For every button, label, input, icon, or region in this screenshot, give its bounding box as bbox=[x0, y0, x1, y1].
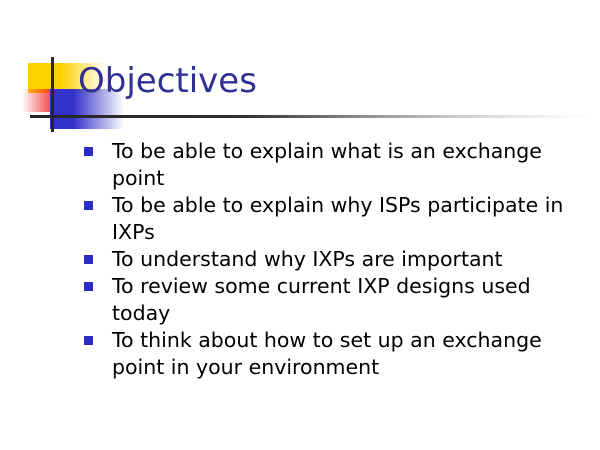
list-item: To review some current IXP designs used … bbox=[84, 273, 584, 327]
square-bullet-icon bbox=[84, 336, 93, 345]
presentation-slide: Objectives To be able to explain what is… bbox=[0, 0, 600, 450]
list-item: To be able to explain what is an exchang… bbox=[84, 138, 584, 192]
page-title: Objectives bbox=[78, 60, 257, 102]
title-underline-rule bbox=[30, 115, 592, 118]
square-bullet-icon bbox=[84, 255, 93, 264]
square-bullet-icon bbox=[84, 201, 93, 210]
list-item: To understand why IXPs are important bbox=[84, 246, 584, 273]
decoration-red-block bbox=[22, 89, 66, 112]
decoration-vertical-line bbox=[51, 57, 54, 132]
list-item-text: To understand why IXPs are important bbox=[112, 246, 584, 273]
list-item-text: To be able to explain what is an exchang… bbox=[112, 138, 584, 192]
square-bullet-icon bbox=[84, 282, 93, 291]
objectives-bullet-list: To be able to explain what is an exchang… bbox=[84, 138, 584, 381]
list-item-text: To be able to explain why ISPs participa… bbox=[112, 192, 584, 246]
square-bullet-icon bbox=[84, 147, 93, 156]
list-item-text: To think about how to set up an exchange… bbox=[112, 327, 584, 381]
list-item: To think about how to set up an exchange… bbox=[84, 327, 584, 381]
list-item-text: To review some current IXP designs used … bbox=[112, 273, 584, 327]
list-item: To be able to explain why ISPs participa… bbox=[84, 192, 584, 246]
